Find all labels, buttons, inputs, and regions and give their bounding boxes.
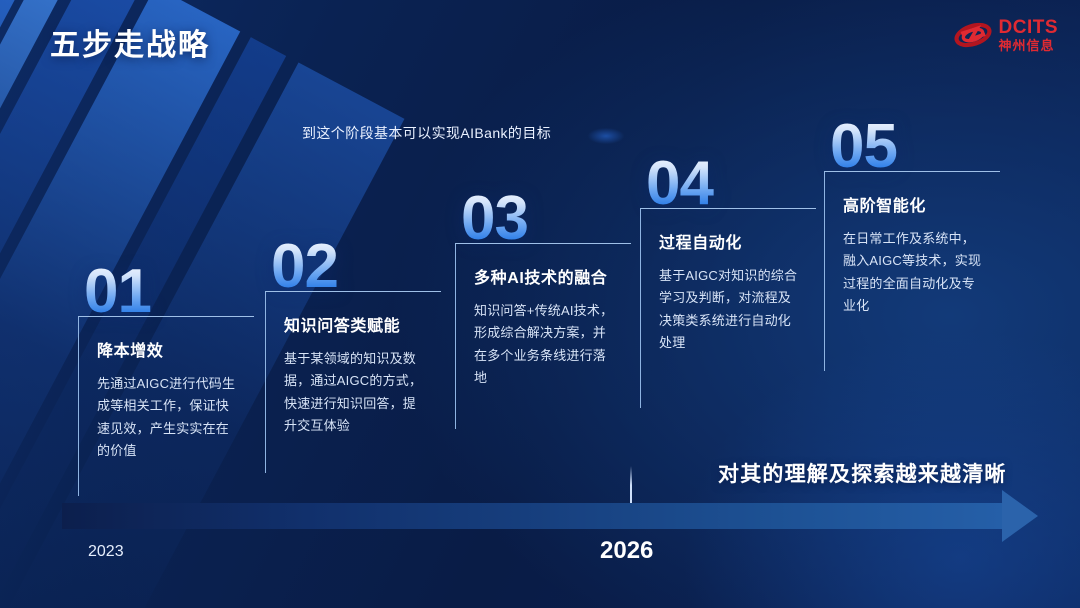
step-card-01: 01 降本增效 先通过AIGC进行代码生成等相关工作，保证快速见效，产生实实在在…: [78, 263, 254, 496]
step-number: 05: [830, 118, 1000, 175]
step-title: 多种AI技术的融合: [474, 264, 617, 288]
annotation-highlight-mark: [588, 128, 624, 144]
timeline-bar: [62, 503, 1002, 529]
brand-logo: DCITS 神州信息: [954, 18, 1059, 52]
step-title: 降本增效: [97, 337, 240, 361]
step-card-04: 04 过程自动化 基于AIGC对知识的综合学习及判断，对流程及决策类系统进行自动…: [640, 155, 816, 408]
step-number: 01: [84, 263, 254, 320]
annotation-text: 到这个阶段基本可以实现AIBank的目标: [302, 123, 551, 143]
step-card-05: 05 高阶智能化 在日常工作及系统中，融入AIGC等技术，实现过程的全面自动化及…: [824, 118, 1000, 371]
logo-wordmark: DCITS 神州信息: [999, 18, 1059, 52]
step-title: 知识问答类赋能: [284, 312, 427, 336]
step-bracket: 知识问答类赋能 基于某领域的知识及数据，通过AIGC的方式，快速进行知识回答，提…: [265, 291, 441, 473]
step-body: 先通过AIGC进行代码生成等相关工作，保证快速见效，产生实实在在的价值: [97, 373, 240, 462]
step-number: 02: [271, 238, 441, 295]
step-body: 基于AIGC对知识的综合学习及判断，对流程及决策类系统进行自动化处理: [659, 265, 802, 354]
step-bracket: 降本增效 先通过AIGC进行代码生成等相关工作，保证快速见效，产生实实在在的价值: [78, 316, 254, 496]
step-bracket: 高阶智能化 在日常工作及系统中，融入AIGC等技术，实现过程的全面自动化及专业化: [824, 171, 1000, 371]
slide-canvas: 五步走战略 DCITS 神州信息 到这个阶段基本可以实现AIBank的目标 01…: [0, 0, 1080, 608]
step-title: 过程自动化: [659, 229, 802, 253]
step-bracket: 多种AI技术的融合 知识问答+传统AI技术，形成综合解决方案，并在多个业务条线进…: [455, 243, 631, 429]
step-number: 03: [461, 190, 631, 247]
timeline-year-start: 2023: [88, 543, 124, 561]
step-body: 在日常工作及系统中，融入AIGC等技术，实现过程的全面自动化及专业化: [843, 228, 986, 317]
timeline-arrow-icon: [1002, 490, 1038, 542]
step-body: 知识问答+传统AI技术，形成综合解决方案，并在多个业务条线进行落地: [474, 300, 617, 389]
step-number: 04: [646, 155, 816, 212]
step-bracket: 过程自动化 基于AIGC对知识的综合学习及判断，对流程及决策类系统进行自动化处理: [640, 208, 816, 408]
page-title: 五步走战略: [50, 20, 210, 64]
timeline-tagline: 对其的理解及探索越来越清晰: [718, 458, 1007, 488]
logo-text-cn: 神州信息: [999, 39, 1059, 52]
timeline-year-end: 2026: [600, 537, 653, 565]
logo-text-en: DCITS: [999, 18, 1059, 37]
step-body: 基于某领域的知识及数据，通过AIGC的方式，快速进行知识回答，提升交互体验: [284, 348, 427, 437]
step-card-03: 03 多种AI技术的融合 知识问答+传统AI技术，形成综合解决方案，并在多个业务…: [455, 190, 631, 429]
step-card-02: 02 知识问答类赋能 基于某领域的知识及数据，通过AIGC的方式，快速进行知识回…: [265, 238, 441, 473]
step-title: 高阶智能化: [843, 192, 986, 216]
swirl-icon: [954, 18, 992, 52]
